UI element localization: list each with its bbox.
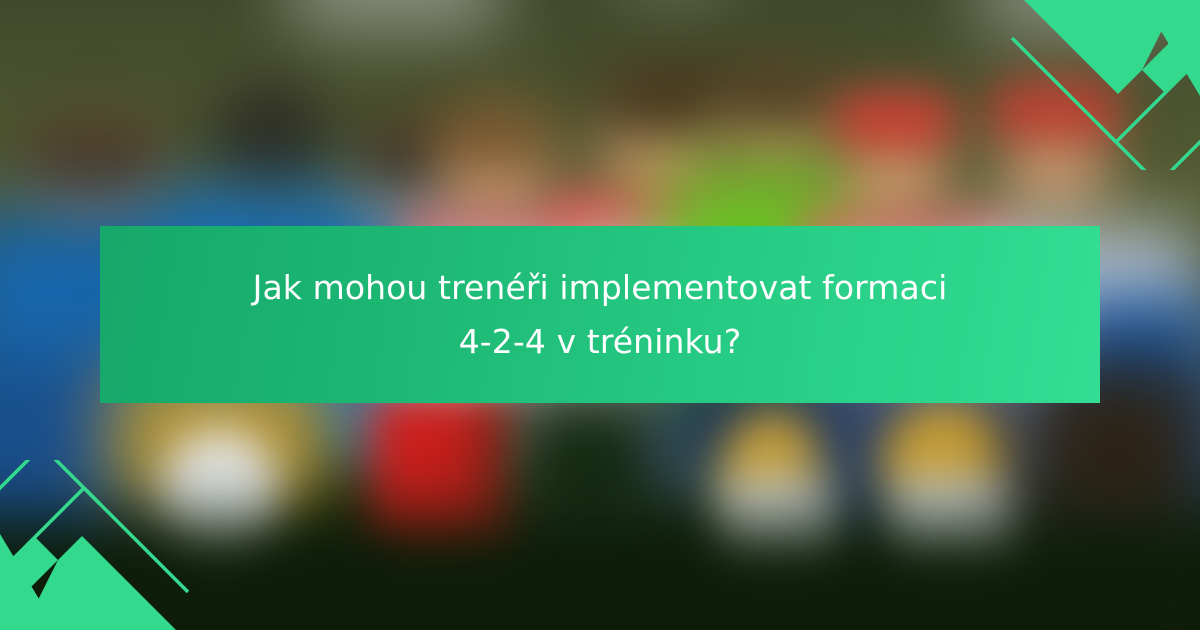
- title-banner: Jak mohou trenéři implementovat formaci …: [100, 226, 1100, 403]
- share-card: Jak mohou trenéři implementovat formaci …: [0, 0, 1200, 630]
- page-title: Jak mohou trenéři implementovat formaci …: [253, 261, 948, 368]
